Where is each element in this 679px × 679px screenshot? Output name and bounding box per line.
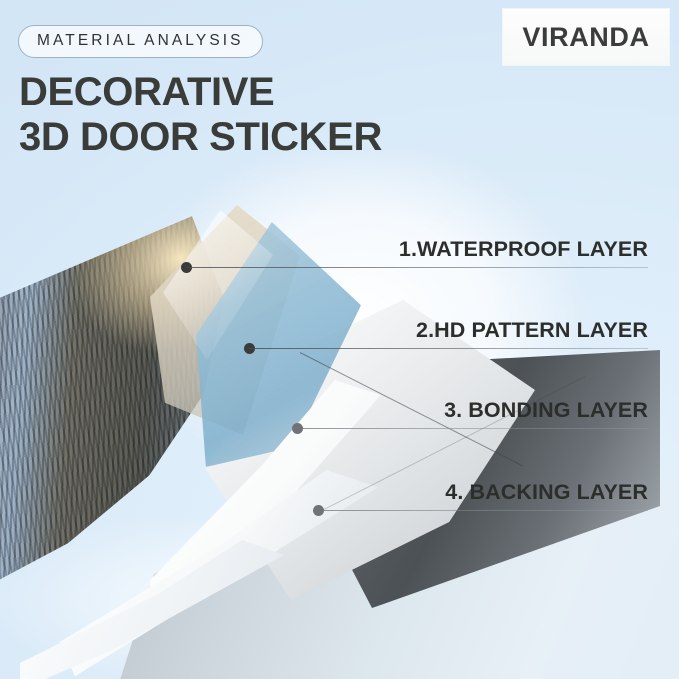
brand-logo: VIRANDA <box>503 9 669 65</box>
infographic-canvas: MATERIAL ANALYSIS DECORATIVE 3D DOOR STI… <box>0 0 679 679</box>
callout-label: 2.HD PATTERN LAYER <box>416 318 648 343</box>
callout-label: 4. BACKING LAYER <box>445 480 648 505</box>
callout-label: 3. BONDING LAYER <box>444 398 648 423</box>
page-title: DECORATIVE 3D DOOR STICKER <box>19 70 382 160</box>
page-title-line-2: 3D DOOR STICKER <box>19 115 382 160</box>
callout-leader-line <box>249 348 648 349</box>
callout-leader-line <box>186 267 648 268</box>
brand-logo-text: VIRANDA <box>522 22 649 53</box>
page-title-line-1: DECORATIVE <box>19 70 382 115</box>
callout-leader-line <box>318 510 648 511</box>
callout-leader-line <box>297 428 648 429</box>
callout-label: 1.WATERPROOF LAYER <box>399 237 648 262</box>
eyebrow-badge: MATERIAL ANALYSIS <box>18 25 263 58</box>
